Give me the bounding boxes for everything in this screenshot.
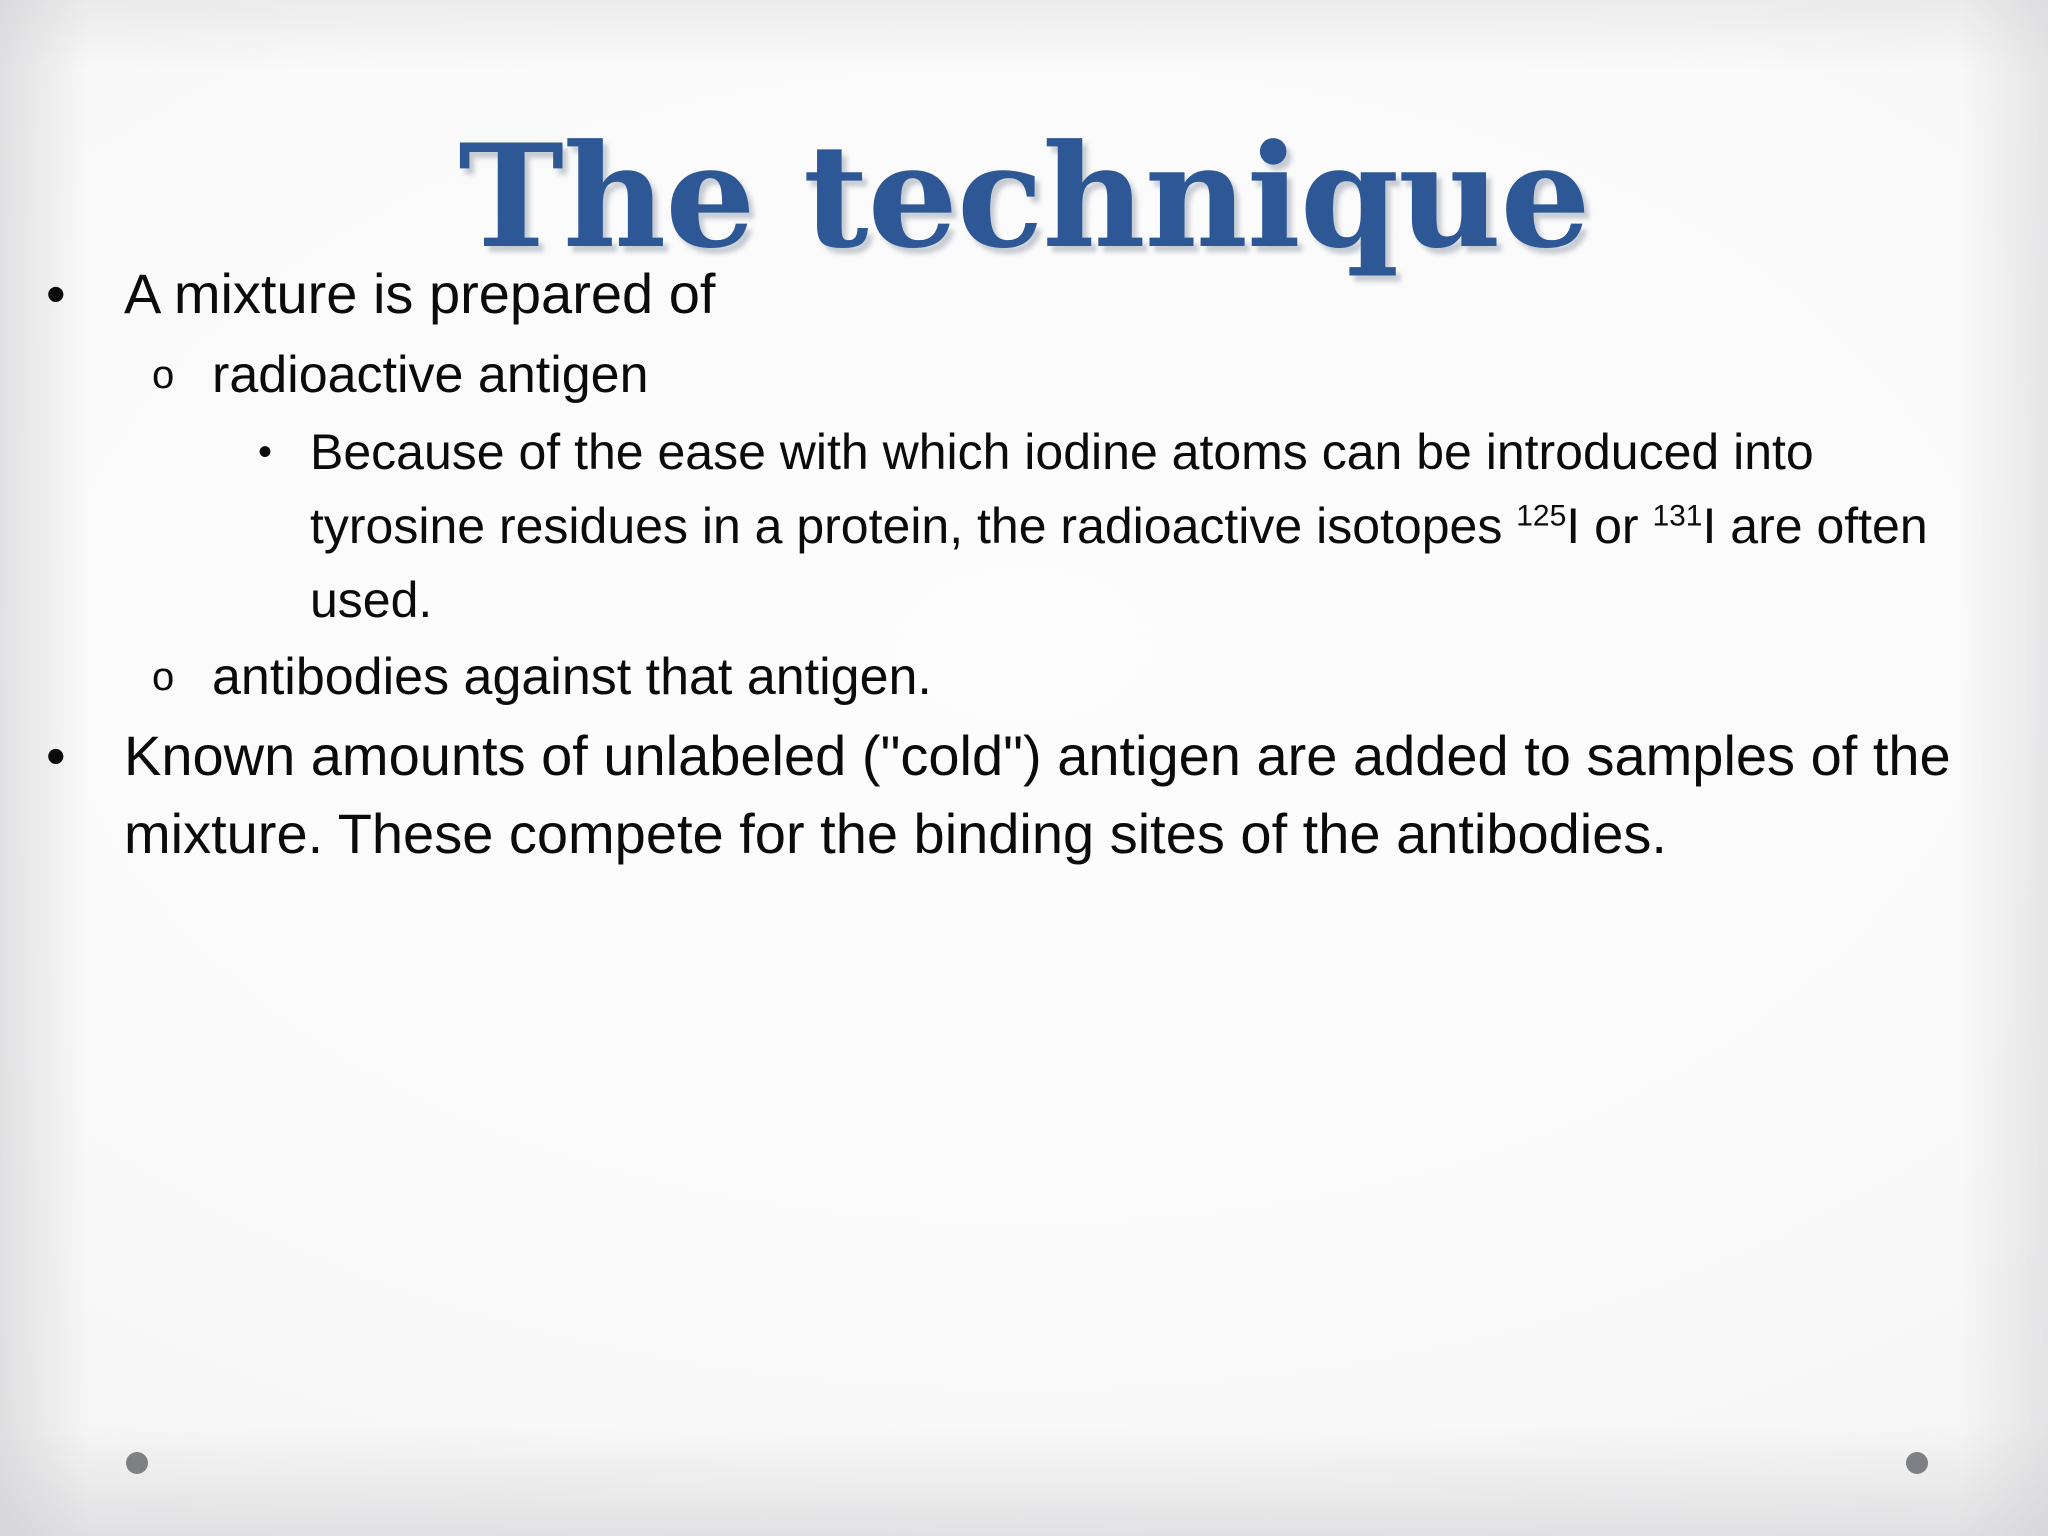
bullet-text: Known amounts of unlabeled ("cold") anti… bbox=[124, 717, 2048, 873]
bullet-marker-circle-icon: o bbox=[152, 339, 212, 411]
bullet-item-level3: • Because of the ease with which iodine … bbox=[0, 415, 2048, 637]
page-title: The technique bbox=[458, 123, 1589, 272]
presentation-slide: The technique • A mixture is prepared of… bbox=[0, 0, 2048, 1536]
bullet-marker-circle-icon: o bbox=[152, 641, 212, 713]
slide-body-content: • A mixture is prepared of o radioactive… bbox=[0, 255, 2048, 879]
bullet-item-level2: o radioactive antigen bbox=[0, 339, 2048, 411]
bullet-item-level1: • Known amounts of unlabeled ("cold") an… bbox=[0, 717, 2048, 873]
bullet-item-level1: • A mixture is prepared of bbox=[0, 255, 2048, 333]
footer-decoration-dot-right-icon bbox=[1906, 1452, 1928, 1474]
bullet-text: radioactive antigen bbox=[212, 339, 2048, 411]
bullet-marker-dot-icon: • bbox=[46, 717, 124, 795]
bullet-text-isotopes: Because of the ease with which iodine at… bbox=[310, 415, 1950, 637]
footer-decoration-dot-left-icon bbox=[126, 1452, 148, 1474]
bullet-marker-dot-icon: • bbox=[46, 255, 124, 333]
bullet-marker-small-dot-icon: • bbox=[258, 415, 310, 489]
superscript-isotope-125: 125 bbox=[1516, 499, 1566, 532]
bullet-item-level2: o antibodies against that antigen. bbox=[0, 641, 2048, 713]
bullet-text: antibodies against that antigen. bbox=[212, 641, 2048, 713]
bullet-text: A mixture is prepared of bbox=[124, 255, 2048, 333]
superscript-isotope-131: 131 bbox=[1652, 499, 1702, 532]
isotope-sentence-middle: I or bbox=[1566, 498, 1652, 554]
